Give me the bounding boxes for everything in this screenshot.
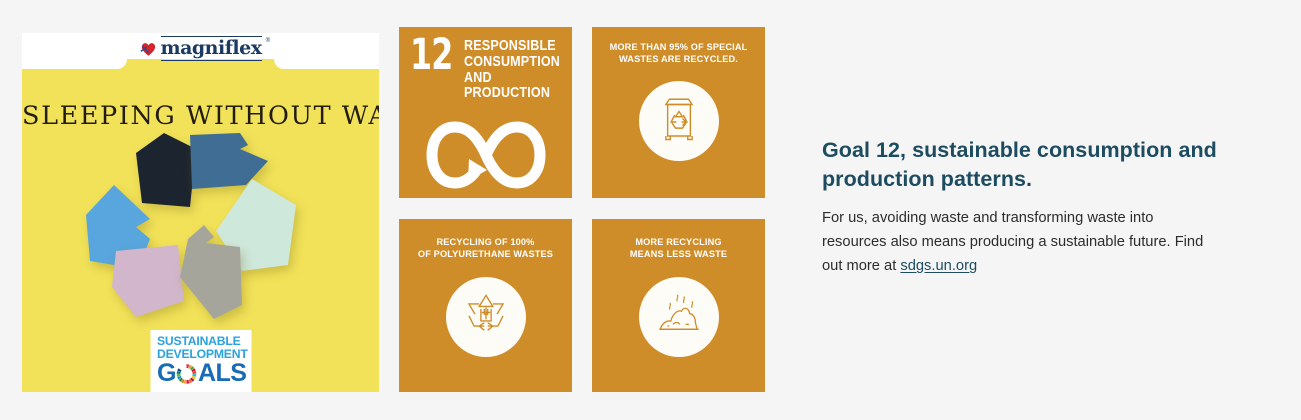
sdg-goal-12-badge: 12 RESPONSIBLE CONSUMPTION AND PRODUCTIO…: [399, 27, 572, 198]
body-paragraph: For us, avoiding waste and transforming …: [822, 207, 1222, 278]
tile-caption: MORE THAN 95% OF SPECIAL WASTES ARE RECY…: [602, 41, 755, 65]
body-text: For us, avoiding waste and transforming …: [822, 210, 1203, 274]
sdg-goal-title: RESPONSIBLE CONSUMPTION AND PRODUCTION: [464, 39, 560, 102]
infinity-arrow-icon: [425, 119, 547, 191]
sdg-goal-12-heading: 12 RESPONSIBLE CONSUMPTION AND PRODUCTIO…: [410, 39, 572, 102]
poster-notch-right: [274, 59, 379, 69]
sdg-logo-line-goals: G: [157, 361, 244, 386]
landfill-waste-pile-icon: [656, 293, 702, 341]
sdgs-un-org-link[interactable]: sdgs.un.org: [900, 258, 977, 274]
stat-more-recycling-less-waste: MORE RECYCLING MEANS LESS WASTE: [592, 219, 765, 392]
poster-notch-left: [22, 59, 127, 69]
sustainable-development-goals-logo: SUSTAINABLE DEVELOPMENT G: [150, 330, 251, 392]
page-title: Goal 12, sustainable consumption and pro…: [822, 136, 1274, 194]
poster-headline: SLEEPING WITHOUT WASTE: [22, 101, 379, 131]
recycle-loop-factory-icon: [462, 292, 510, 343]
tile-caption: MORE RECYCLING MEANS LESS WASTE: [602, 236, 755, 260]
stat-polyurethane-recycling: RECYCLING OF 100% OF POLYURETHANE WASTES: [399, 219, 572, 392]
lilac-fabric-arrow: [112, 243, 186, 321]
tile-icon-circle: [446, 277, 526, 357]
tile-icon-circle: [639, 81, 719, 161]
copy-column: Goal 12, sustainable consumption and pro…: [822, 136, 1274, 279]
recycling-bin-icon: [657, 94, 701, 148]
magniflex-wordmark: magniflex®: [160, 36, 261, 61]
tile-icon-circle: [639, 277, 719, 357]
magniflex-logo: magniflex®: [139, 36, 261, 61]
heart-icon: [139, 40, 156, 58]
sdg-goal-number: 12: [410, 39, 453, 73]
sdg-logo-g: G: [157, 361, 176, 386]
sdg-logo-als: ALS: [198, 361, 247, 386]
sdg-colour-wheel-icon: [176, 363, 198, 385]
sdg-stats-tile-grid: 12 RESPONSIBLE CONSUMPTION AND PRODUCTIO…: [399, 27, 765, 392]
sdg-goal-12-promo-section: magniflex® SLEEPING WITHOUT WASTE: [0, 0, 1301, 420]
grey-fabric-arrow: [180, 225, 246, 321]
sdg-logo-line-development: DEVELOPMENT: [157, 348, 244, 360]
campaign-poster-image: magniflex® SLEEPING WITHOUT WASTE: [22, 33, 379, 392]
recycling-arrows-fabric-collage: [84, 133, 324, 328]
stat-special-wastes-recycled: MORE THAN 95% OF SPECIAL WASTES ARE RECY…: [592, 27, 765, 198]
tile-caption: RECYCLING OF 100% OF POLYURETHANE WASTES: [409, 236, 562, 260]
registered-trademark-mark: ®: [266, 38, 270, 44]
